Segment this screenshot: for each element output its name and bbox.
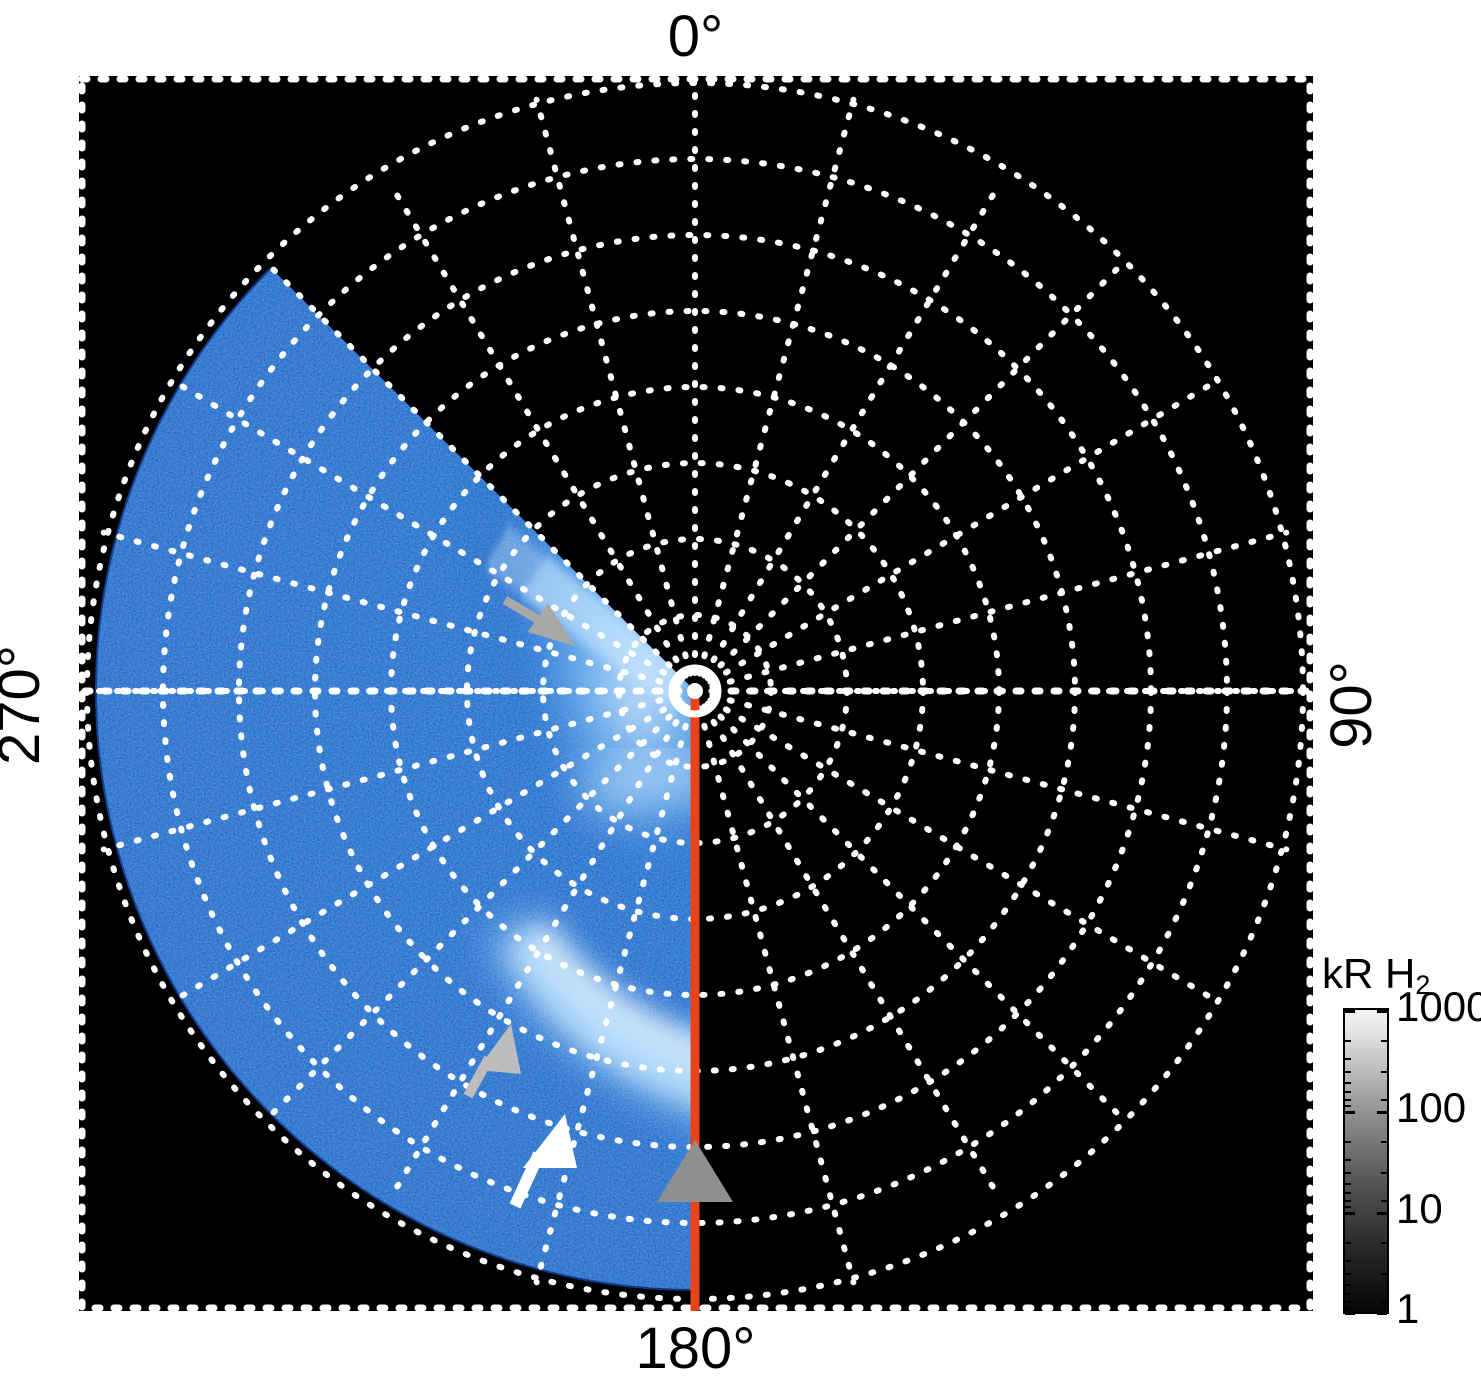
colorbar-tick-1000 bbox=[1345, 1010, 1355, 1013]
angle-label-90: 90° bbox=[1323, 605, 1381, 805]
colorbar-tick-1 bbox=[1345, 1312, 1355, 1315]
colorbar-minor-tick bbox=[1345, 1273, 1351, 1275]
colorbar-minor-tick bbox=[1345, 1172, 1351, 1174]
colorbar-minor-tick bbox=[1345, 1301, 1351, 1303]
colorbar-minor-tick bbox=[1381, 1172, 1387, 1174]
colorbar-minor-tick bbox=[1381, 1200, 1387, 1202]
colorbar-minor-tick bbox=[1381, 1071, 1387, 1073]
colorbar-minor-tick bbox=[1345, 1040, 1351, 1042]
colorbar-minor-tick bbox=[1381, 1099, 1387, 1101]
colorbar-minor-tick bbox=[1381, 1242, 1387, 1244]
colorbar-minor-tick bbox=[1345, 1200, 1351, 1202]
colorbar-minor-tick bbox=[1345, 1071, 1351, 1073]
colorbar-minor-tick bbox=[1345, 1242, 1351, 1244]
colorbar-minor-tick bbox=[1345, 1192, 1351, 1194]
colorbar-minor-tick bbox=[1345, 1183, 1351, 1185]
colorbar-minor-tick bbox=[1381, 1141, 1387, 1143]
colorbar-label-1: 1 bbox=[1396, 1288, 1419, 1330]
colorbar-tick-10-right bbox=[1377, 1212, 1387, 1215]
angle-label-0: 0° bbox=[0, 8, 1391, 66]
colorbar-minor-tick bbox=[1345, 1099, 1351, 1101]
colorbar-minor-tick bbox=[1345, 1058, 1351, 1060]
colorbar-minor-tick bbox=[1345, 1091, 1351, 1093]
colorbar-minor-tick bbox=[1345, 1260, 1351, 1262]
colorbar-tick-100 bbox=[1345, 1111, 1355, 1114]
figure-root: 0° 180° 270° 90° bbox=[0, 0, 1481, 1386]
colorbar-minor-tick bbox=[1345, 1206, 1351, 1208]
colorbar-tick-100-right bbox=[1377, 1111, 1387, 1114]
colorbar-label-10: 10 bbox=[1396, 1188, 1443, 1230]
colorbar-tick-10 bbox=[1345, 1212, 1355, 1215]
polar-map-svg bbox=[79, 76, 1313, 1311]
colorbar-minor-tick bbox=[1345, 1141, 1351, 1143]
colorbar-minor-tick bbox=[1345, 1159, 1351, 1161]
colorbar-minor-tick bbox=[1345, 1293, 1351, 1295]
colorbar-minor-tick bbox=[1345, 1105, 1351, 1107]
colorbar-minor-tick bbox=[1345, 1307, 1351, 1309]
colorbar-minor-tick bbox=[1381, 1301, 1387, 1303]
colorbar-tick-1000-right bbox=[1377, 1010, 1387, 1013]
colorbar-minor-tick bbox=[1345, 1284, 1351, 1286]
colorbar-minor-tick bbox=[1381, 1273, 1387, 1275]
colorbar-label-1000: 1000 bbox=[1396, 986, 1481, 1028]
colorbar-minor-tick bbox=[1345, 1082, 1351, 1084]
angle-label-180: 180° bbox=[0, 1320, 1391, 1378]
colorbar-gradient[interactable] bbox=[1343, 1008, 1389, 1314]
colorbar-tick-1-right bbox=[1377, 1312, 1387, 1315]
colorbar-label-100: 100 bbox=[1396, 1087, 1466, 1129]
polar-plot-area[interactable] bbox=[79, 76, 1313, 1311]
angle-label-270: 270° bbox=[0, 605, 49, 805]
colorbar-minor-tick bbox=[1381, 1040, 1387, 1042]
